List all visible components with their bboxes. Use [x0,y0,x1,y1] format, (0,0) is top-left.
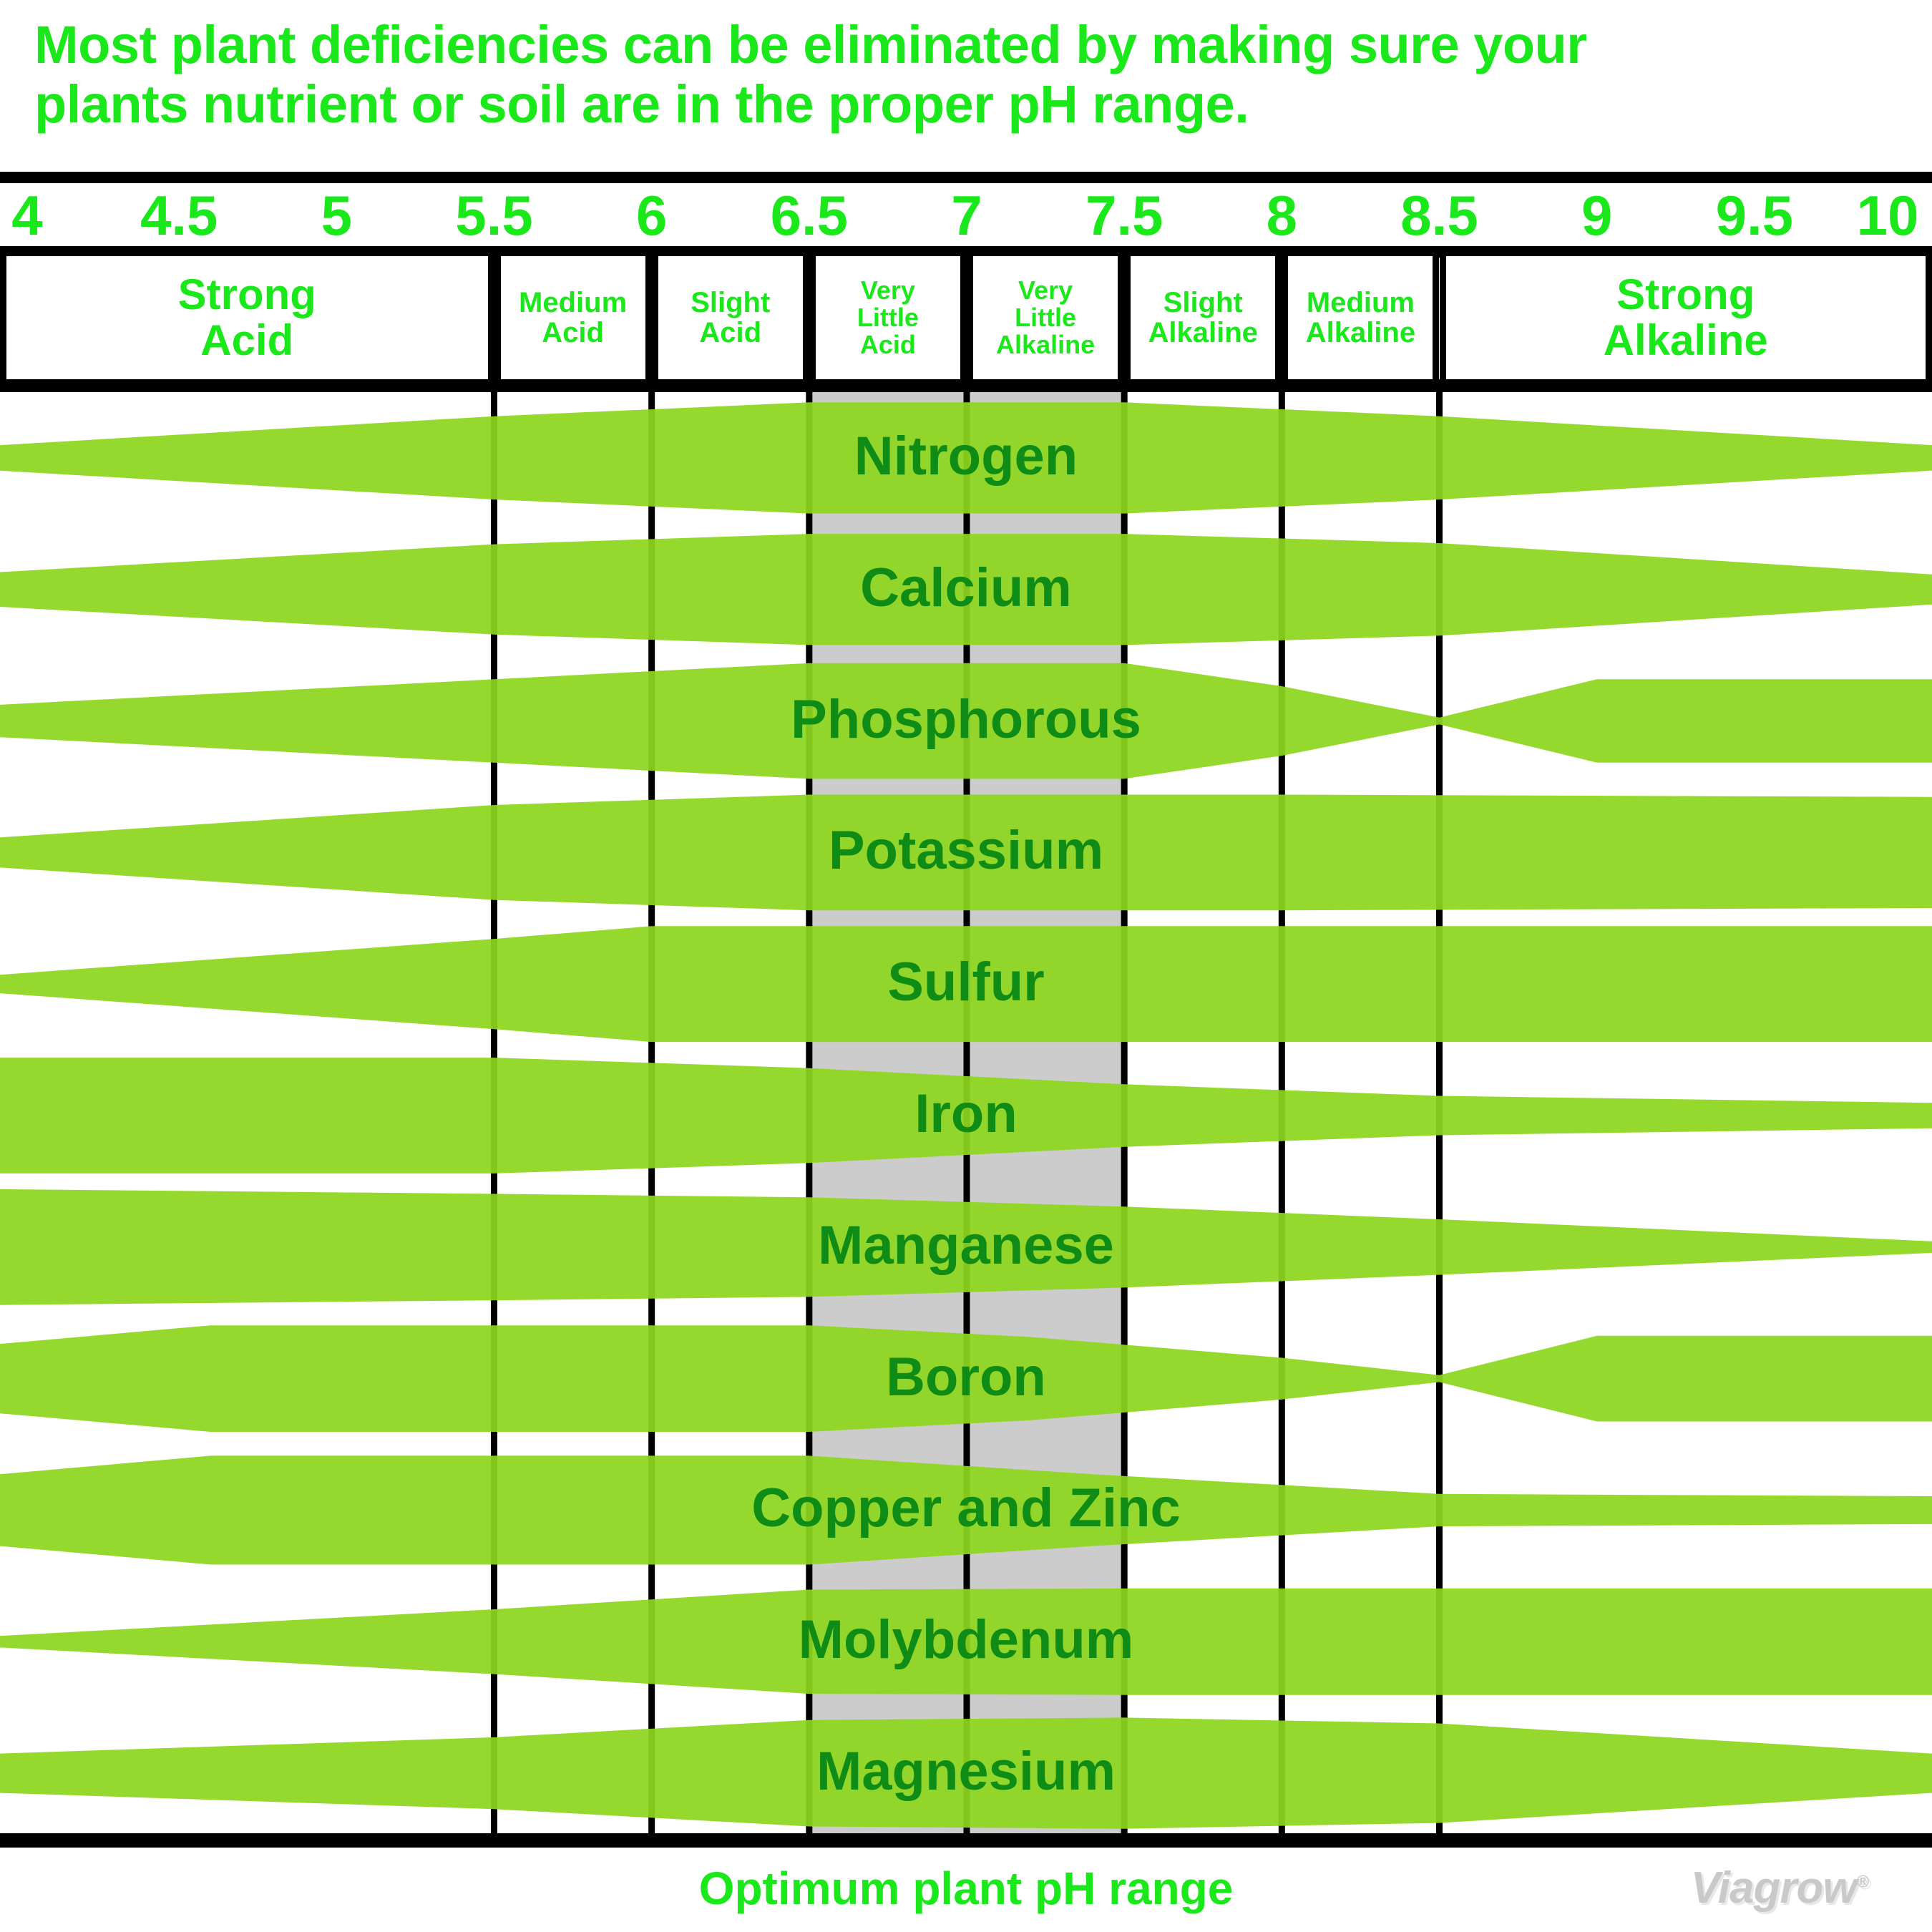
nutrient-band-copper-and-zinc [0,1455,1932,1564]
ph-category-label: VeryLittleAcid [857,277,919,358]
ph-tick-6: 6 [636,185,667,246]
optimum-range-caption: Optimum plant pH range [0,1862,1932,1915]
ph-category-label: SlightAlkaline [1148,288,1258,348]
viagrow-logo: Viagrow® [1662,1852,1898,1923]
ph-category-medium-alkaline: MediumAlkaline [1282,256,1439,379]
ph-tick-8: 8 [1267,185,1297,246]
nutrient-band-nitrogen [0,402,1932,513]
ph-category-very-little-alkaline: VeryLittleAlkaline [967,256,1124,379]
ph-category-header: StrongAcidMediumAcidSlightAcidVeryLittle… [0,256,1932,379]
nutrient-band-iron [0,1058,1932,1174]
ph-category-strong-acid: StrongAcid [0,256,494,379]
ph-tick-6-5: 6.5 [771,185,848,246]
ph-tick-10: 10 [1857,185,1919,246]
nutrient-band-phosphorous [0,663,1932,779]
ph-tick-7-5: 7.5 [1085,185,1163,246]
ph-category-label: StrongAcid [178,272,316,363]
ph-category-strong-alkaline: StrongAlkaline [1440,256,1932,379]
nutrient-band-potassium [0,795,1932,911]
ph-tick-5: 5 [321,185,352,246]
header-rule-top [0,172,1932,183]
nutrient-bands [0,392,1932,1839]
title-line-2: plants nutrient or soil are in the prope… [34,75,1909,135]
title-line-1: Most plant deficiencies can be eliminate… [34,16,1909,75]
nutrient-band-boron [0,1325,1932,1432]
ph-category-very-little-acid: VeryLittleAcid [809,256,967,379]
ph-category-label: StrongAlkaline [1604,272,1768,363]
ph-tick-8-5: 8.5 [1400,185,1478,246]
nutrient-availability-chart [0,392,1932,1839]
nutrient-band-manganese [0,1189,1932,1305]
header-rule-bottom [0,379,1932,392]
ph-category-slight-acid: SlightAcid [652,256,809,379]
ph-category-label: SlightAcid [691,288,770,348]
ph-category-medium-acid: MediumAcid [494,256,652,379]
ph-category-label: MediumAlkaline [1306,288,1415,348]
nutrient-band-magnesium [0,1717,1932,1828]
registered-trademark-icon: ® [1857,1872,1869,1891]
ph-category-slight-alkaline: SlightAlkaline [1124,256,1282,379]
ph-tick-4: 4 [11,185,42,246]
ph-tick-4-5: 4.5 [140,185,218,246]
viagrow-wordmark: Viagrow® [1691,1863,1869,1913]
ph-tick-5-5: 5.5 [455,185,532,246]
ph-tick-9: 9 [1581,185,1612,246]
nutrient-band-molybdenum [0,1589,1932,1695]
footer-rule [0,1833,1932,1848]
ph-tick-7: 7 [951,185,982,246]
ph-scale-axis: 44.555.566.577.588.599.510 [0,185,1932,246]
ph-category-label: MediumAcid [519,288,627,348]
nutrient-band-sulfur [0,926,1932,1042]
ph-category-label: VeryLittleAlkaline [996,277,1095,358]
viagrow-wordmark-text: Viagrow [1691,1863,1857,1913]
page-title: Most plant deficiencies can be eliminate… [34,16,1909,135]
ph-tick-9-5: 9.5 [1716,185,1793,246]
nutrient-band-calcium [0,534,1932,645]
